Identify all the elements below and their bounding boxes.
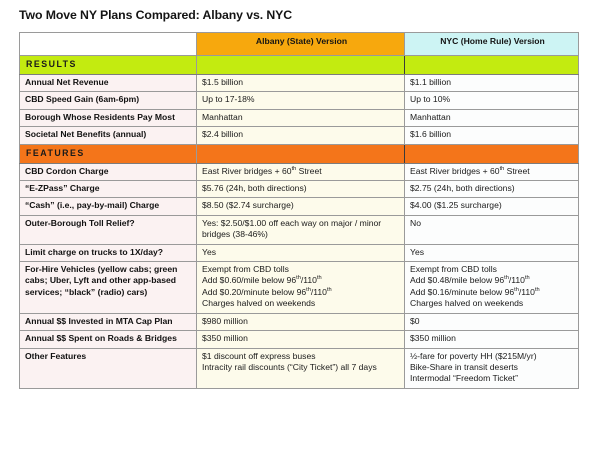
- page-title: Two Move NY Plans Compared: Albany vs. N…: [19, 8, 578, 23]
- row-value-albany: Exempt from CBD tollsAdd $0.60/mile belo…: [197, 262, 405, 314]
- row-value-albany: $1.5 billion: [197, 75, 405, 92]
- row-label: Societal Net Benefits (annual): [20, 127, 197, 144]
- cell-line: $4.00 ($1.25 surcharge): [410, 200, 574, 211]
- row-value-nyc: $350 million: [405, 331, 579, 348]
- row-value-albany: $980 million: [197, 313, 405, 330]
- row-label: Other Features: [20, 348, 197, 388]
- cell-line: Intracity rail discounts (“City Ticket”)…: [202, 362, 400, 373]
- table-row: Borough Whose Residents Pay MostManhatta…: [20, 109, 579, 126]
- row-value-nyc: $0: [405, 313, 579, 330]
- row-label: CBD Cordon Charge: [20, 163, 197, 180]
- cell-line: $1.1 billion: [410, 77, 574, 88]
- table-row: “E-ZPass” Charge$5.76 (24h, both directi…: [20, 181, 579, 198]
- row-value-albany: $5.76 (24h, both directions): [197, 181, 405, 198]
- cell-line: $5.76 (24h, both directions): [202, 183, 400, 194]
- section-header-features: FEATURES: [20, 144, 579, 163]
- table-header-row: Albany (State) VersionNYC (Home Rule) Ve…: [20, 33, 579, 56]
- row-value-albany: Manhattan: [197, 109, 405, 126]
- table-row: Annual Net Revenue$1.5 billion$1.1 billi…: [20, 75, 579, 92]
- row-value-nyc: Manhattan: [405, 109, 579, 126]
- header-blank-cell: [20, 33, 197, 56]
- row-value-nyc: East River bridges + 60th Street: [405, 163, 579, 180]
- cell-line: Yes: $2.50/$1.00 off each way on major /…: [202, 218, 400, 241]
- cell-line: Add $0.20/minute below 96th/110th: [202, 287, 400, 298]
- cell-line: Add $0.16/minute below 96th/110th: [410, 287, 574, 298]
- cell-line: $980 million: [202, 316, 400, 327]
- cell-line: Intermodal “Freedom Ticket”: [410, 373, 574, 384]
- row-value-nyc: No: [405, 215, 579, 244]
- row-value-nyc: $2.75 (24h, both directions): [405, 181, 579, 198]
- row-value-nyc: ½-fare for poverty HH ($215M/yr)Bike-Sha…: [405, 348, 579, 388]
- row-value-albany: East River bridges + 60th Street: [197, 163, 405, 180]
- section-title: RESULTS: [20, 56, 197, 75]
- table-row: Societal Net Benefits (annual)$2.4 billi…: [20, 127, 579, 144]
- cell-line: Yes: [202, 247, 400, 258]
- cell-line: $0: [410, 316, 574, 327]
- table-body: Albany (State) VersionNYC (Home Rule) Ve…: [20, 33, 579, 389]
- cell-line: Yes: [410, 247, 574, 258]
- section-spacer-albany: [197, 144, 405, 163]
- section-spacer-nyc: [405, 56, 579, 75]
- row-value-nyc: Yes: [405, 244, 579, 261]
- cell-line: No: [410, 218, 574, 229]
- cell-line: ½-fare for poverty HH ($215M/yr): [410, 351, 574, 362]
- table-row: For-Hire Vehicles (yellow cabs; green ca…: [20, 262, 579, 314]
- cell-line: $350 million: [410, 333, 574, 344]
- row-value-albany: Yes: [197, 244, 405, 261]
- row-label: CBD Speed Gain (6am-6pm): [20, 92, 197, 109]
- cell-line: $350 million: [202, 333, 400, 344]
- row-label: Annual $$ Invested in MTA Cap Plan: [20, 313, 197, 330]
- row-value-albany: $8.50 ($2.74 surcharge): [197, 198, 405, 215]
- header-nyc: NYC (Home Rule) Version: [405, 33, 579, 56]
- document-page: Two Move NY Plans Compared: Albany vs. N…: [0, 0, 600, 462]
- header-albany: Albany (State) Version: [197, 33, 405, 56]
- table-row: Limit charge on trucks to 1X/day?YesYes: [20, 244, 579, 261]
- table-row: Other Features$1 discount off express bu…: [20, 348, 579, 388]
- row-label: Annual $$ Spent on Roads & Bridges: [20, 331, 197, 348]
- row-value-albany: $2.4 billion: [197, 127, 405, 144]
- row-label: “E-ZPass” Charge: [20, 181, 197, 198]
- row-value-nyc: $4.00 ($1.25 surcharge): [405, 198, 579, 215]
- row-value-albany: Yes: $2.50/$1.00 off each way on major /…: [197, 215, 405, 244]
- row-label: Limit charge on trucks to 1X/day?: [20, 244, 197, 261]
- comparison-table: Albany (State) VersionNYC (Home Rule) Ve…: [19, 32, 579, 389]
- section-spacer-albany: [197, 56, 405, 75]
- cell-line: Up to 10%: [410, 94, 574, 105]
- cell-line: Add $0.48/mile below 96th/110th: [410, 275, 574, 286]
- row-value-albany: $1 discount off express busesIntracity r…: [197, 348, 405, 388]
- row-label: For-Hire Vehicles (yellow cabs; green ca…: [20, 262, 197, 314]
- cell-line: Up to 17-18%: [202, 94, 400, 105]
- cell-line: East River bridges + 60th Street: [202, 166, 400, 177]
- cell-line: Bike-Share in transit deserts: [410, 362, 574, 373]
- row-label: Borough Whose Residents Pay Most: [20, 109, 197, 126]
- row-label: Outer-Borough Toll Relief?: [20, 215, 197, 244]
- section-title: FEATURES: [20, 144, 197, 163]
- table-row: Outer-Borough Toll Relief?Yes: $2.50/$1.…: [20, 215, 579, 244]
- cell-line: Manhattan: [202, 112, 400, 123]
- row-value-albany: Up to 17-18%: [197, 92, 405, 109]
- table-row: Annual $$ Spent on Roads & Bridges$350 m…: [20, 331, 579, 348]
- row-value-nyc: $1.6 billion: [405, 127, 579, 144]
- section-spacer-nyc: [405, 144, 579, 163]
- table-row: CBD Speed Gain (6am-6pm)Up to 17-18%Up t…: [20, 92, 579, 109]
- cell-line: $2.4 billion: [202, 129, 400, 140]
- cell-line: $8.50 ($2.74 surcharge): [202, 200, 400, 211]
- cell-line: Exempt from CBD tolls: [202, 264, 400, 275]
- cell-line: Charges halved on weekends: [202, 298, 400, 309]
- row-value-nyc: $1.1 billion: [405, 75, 579, 92]
- row-label: Annual Net Revenue: [20, 75, 197, 92]
- row-value-nyc: Exempt from CBD tollsAdd $0.48/mile belo…: [405, 262, 579, 314]
- cell-line: $1.5 billion: [202, 77, 400, 88]
- cell-line: $1.6 billion: [410, 129, 574, 140]
- row-value-albany: $350 million: [197, 331, 405, 348]
- table-row: Annual $$ Invested in MTA Cap Plan$980 m…: [20, 313, 579, 330]
- cell-line: East River bridges + 60th Street: [410, 166, 574, 177]
- cell-line: Charges halved on weekends: [410, 298, 574, 309]
- cell-line: Exempt from CBD tolls: [410, 264, 574, 275]
- cell-line: Manhattan: [410, 112, 574, 123]
- section-header-results: RESULTS: [20, 56, 579, 75]
- row-value-nyc: Up to 10%: [405, 92, 579, 109]
- table-row: “Cash” (i.e., pay-by-mail) Charge$8.50 (…: [20, 198, 579, 215]
- cell-line: Add $0.60/mile below 96th/110th: [202, 275, 400, 286]
- table-row: CBD Cordon ChargeEast River bridges + 60…: [20, 163, 579, 180]
- cell-line: $2.75 (24h, both directions): [410, 183, 574, 194]
- cell-line: $1 discount off express buses: [202, 351, 400, 362]
- row-label: “Cash” (i.e., pay-by-mail) Charge: [20, 198, 197, 215]
